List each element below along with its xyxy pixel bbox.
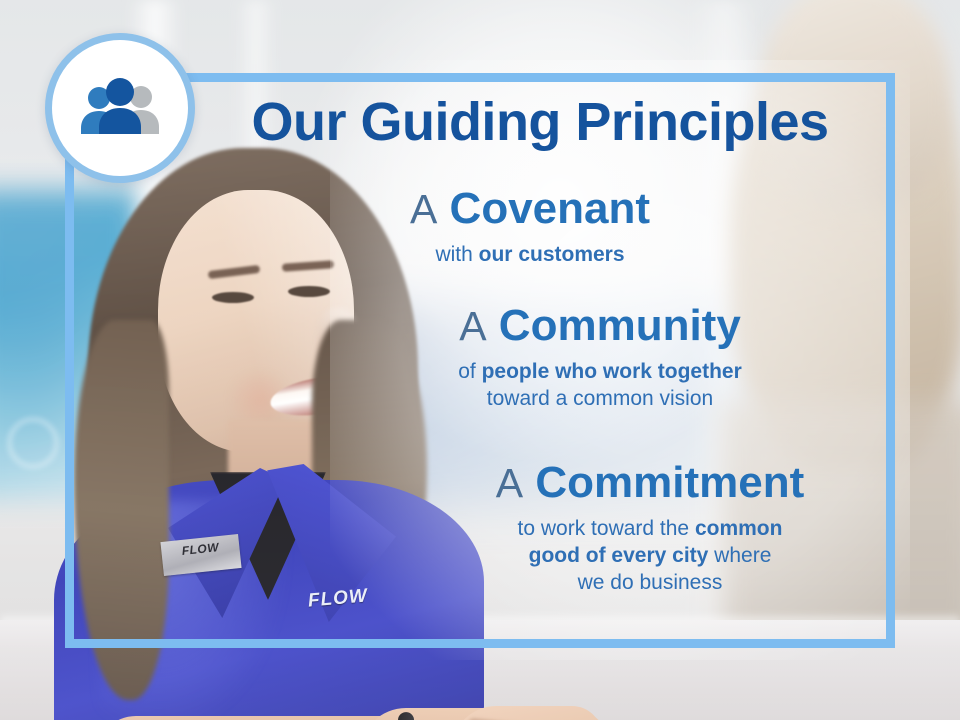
subtext-line: we do business bbox=[380, 569, 920, 596]
principle-article: A bbox=[496, 460, 523, 506]
principle-word: Covenant bbox=[450, 184, 650, 233]
principle-subtext: of people who work together toward a com… bbox=[340, 358, 860, 413]
principle-word: Commitment bbox=[535, 458, 804, 507]
text-content: Our Guiding Principles A Covenant with o… bbox=[0, 0, 960, 720]
principle-word: Community bbox=[499, 301, 741, 350]
subtext-line: with our customers bbox=[435, 243, 624, 266]
principle-community: A Community of people who work together … bbox=[340, 303, 860, 412]
principle-subtext: with our customers bbox=[290, 241, 770, 268]
subtext-line: toward a common vision bbox=[340, 385, 860, 412]
principle-heading: A Covenant bbox=[290, 186, 770, 232]
principle-heading: A Commitment bbox=[380, 460, 920, 506]
principle-covenant: A Covenant with our customers bbox=[290, 186, 770, 268]
principle-subtext: to work toward the common good of every … bbox=[380, 515, 920, 597]
subtext-line: to work toward the common bbox=[380, 515, 920, 542]
principle-commitment: A Commitment to work toward the common g… bbox=[380, 460, 920, 597]
subtext-line: good of every city where bbox=[380, 542, 920, 569]
page-title: Our Guiding Principles bbox=[200, 95, 880, 149]
subtext-line: of people who work together bbox=[340, 358, 860, 385]
principle-article: A bbox=[410, 186, 437, 232]
guiding-principles-banner: FLOW FLOW bbox=[0, 0, 960, 720]
principle-heading: A Community bbox=[340, 303, 860, 349]
principle-article: A bbox=[459, 303, 486, 349]
